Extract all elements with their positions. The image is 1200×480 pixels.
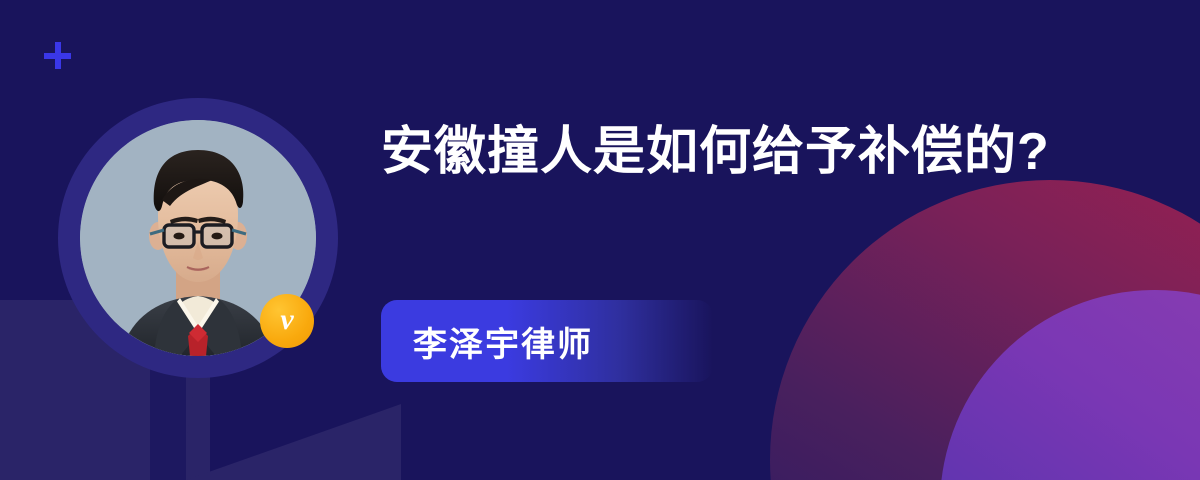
author-name-badge[interactable]: 李泽宇律师	[381, 300, 713, 382]
plus-icon	[44, 42, 71, 69]
headline-block: 安徽撞人是如何给予补偿的?	[381, 118, 1121, 188]
background-triangle-shape	[186, 404, 401, 480]
author-name-label: 李泽宇律师	[381, 317, 593, 366]
verified-check-glyph: v	[280, 305, 293, 335]
page-title: 安徽撞人是如何给予补偿的?	[381, 118, 1121, 188]
avatar: v	[58, 98, 338, 378]
verified-badge-icon: v	[260, 294, 314, 348]
promo-banner: v 安徽撞人是如何给予补偿的? 李泽宇律师	[0, 0, 1200, 480]
